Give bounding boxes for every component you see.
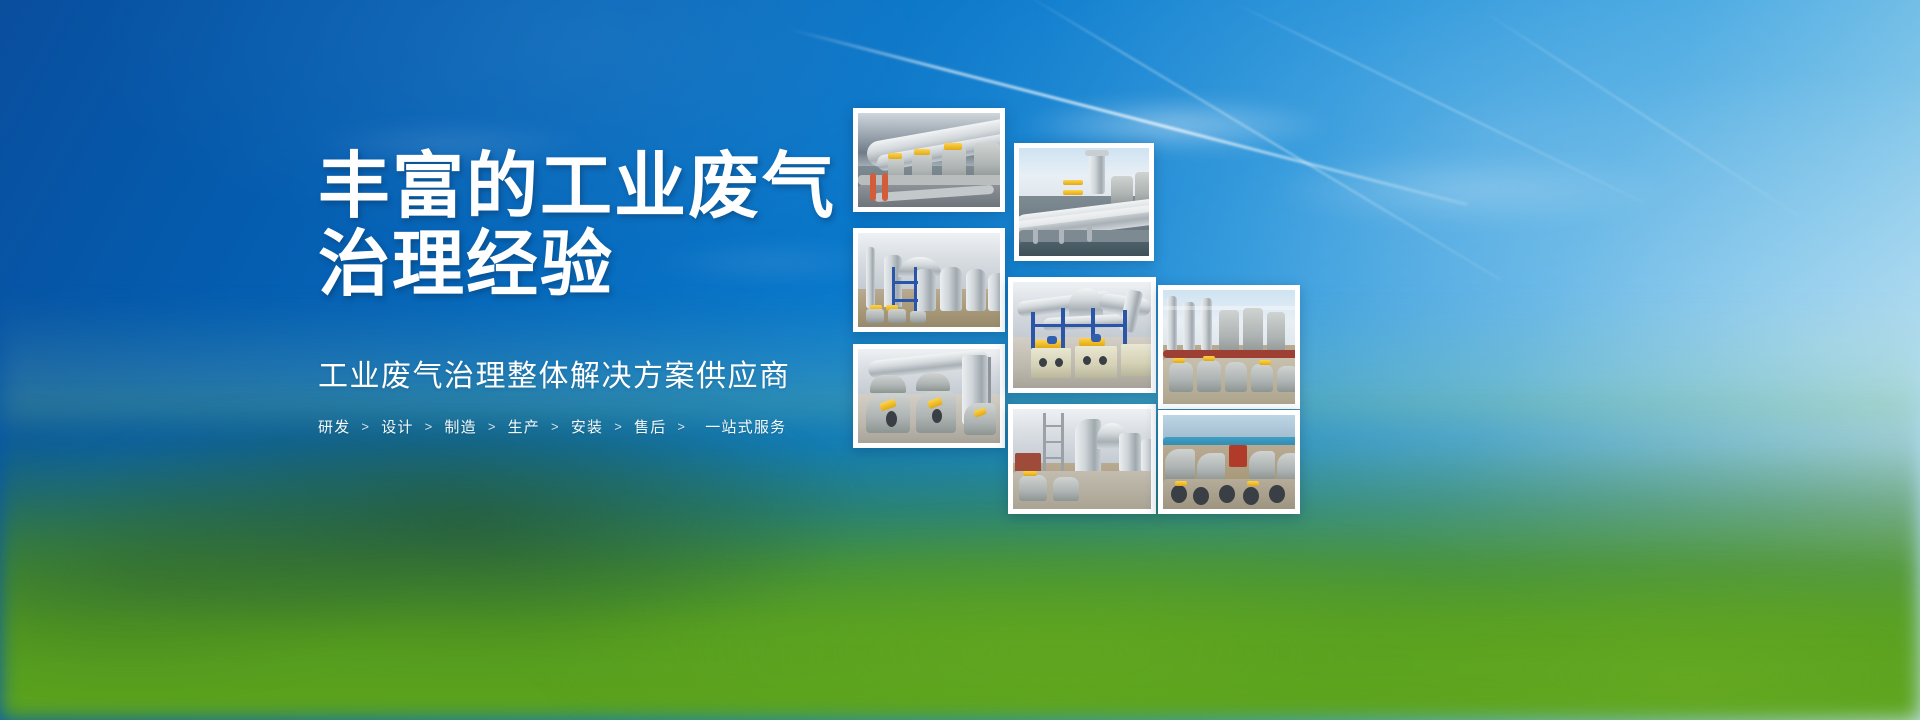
breadcrumb: 研发 > 设计 > 制造 > 生产 > 安装 > 售后 > 一站式服务 — [318, 416, 878, 437]
breadcrumb-item-1: 设计 — [381, 416, 413, 437]
headline-line-1: 丰富的工业废气 — [318, 147, 836, 227]
breadcrumb-item-5: 售后 — [634, 416, 666, 437]
breadcrumb-separator-icon: > — [551, 419, 560, 434]
photo-blue-rack-blowers — [1008, 277, 1156, 393]
hero-copy: 丰富的工业废气 治理经验 工业废气治理整体解决方案供应商 研发 > 设计 > 制… — [318, 148, 878, 437]
breadcrumb-separator-icon: > — [614, 419, 623, 434]
photo-plant-stacks — [1008, 404, 1156, 514]
breadcrumb-item-4: 安装 — [571, 416, 603, 437]
breadcrumb-separator-icon: > — [425, 419, 434, 434]
headline-line-2: 治理经验 — [318, 226, 878, 304]
breadcrumb-item-2: 制造 — [444, 416, 476, 437]
hero-banner: 丰富的工业废气 治理经验 工业废气治理整体解决方案供应商 研发 > 设计 > 制… — [0, 0, 1920, 720]
page-subtitle: 工业废气治理整体解决方案供应商 — [318, 358, 878, 396]
breadcrumb-item-3: 生产 — [508, 416, 540, 437]
breadcrumb-separator-icon: > — [488, 419, 497, 434]
photo-collage — [0, 0, 1920, 720]
breadcrumb-separator-icon: > — [361, 419, 370, 434]
photo-fan-housings-yard — [1158, 410, 1300, 514]
breadcrumb-separator-icon: > — [677, 419, 686, 434]
breadcrumb-item-0: 研发 — [318, 416, 350, 437]
page-title: 丰富的工业废气 治理经验 — [318, 148, 878, 304]
photo-tall-tower-array — [1158, 285, 1300, 409]
photo-long-duct-line — [1014, 143, 1154, 261]
breadcrumb-item-6: 一站式服务 — [705, 416, 786, 437]
